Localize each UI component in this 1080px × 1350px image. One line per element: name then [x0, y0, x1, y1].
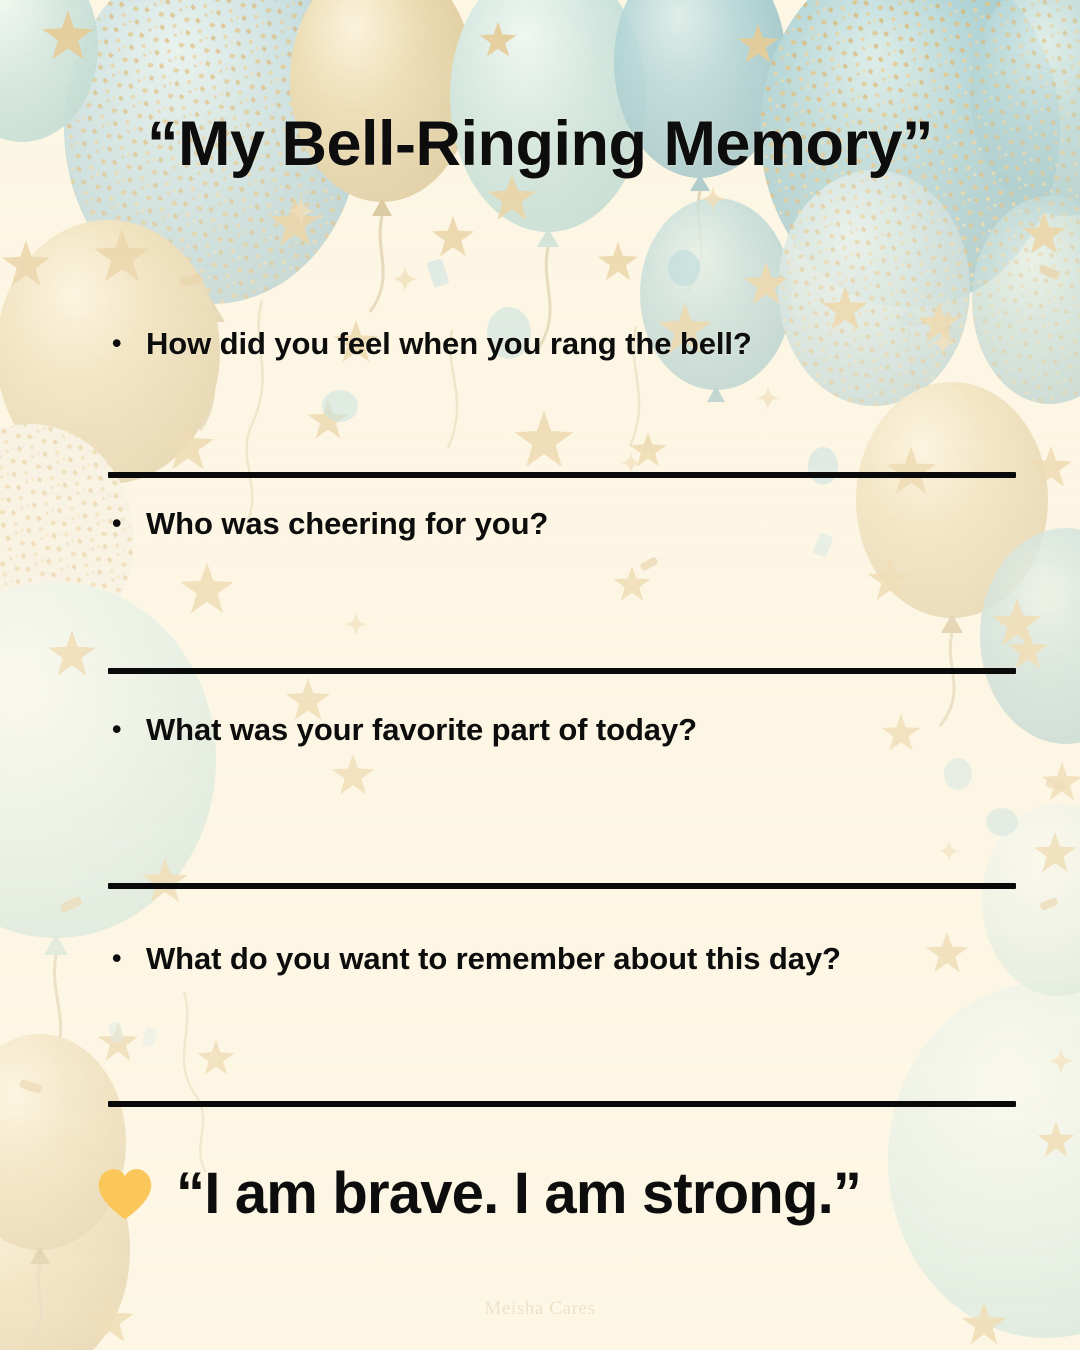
- watermark-credit: Meisha Cares: [0, 1298, 1080, 1320]
- question-4-text: What do you want to remember about this …: [146, 941, 1080, 977]
- question-3-text: What was your favorite part of today?: [146, 712, 1080, 748]
- affirmation-row: “I am brave. I am strong.”: [96, 1160, 861, 1227]
- printable-worksheet-page: “My Bell-Ringing Memory” • How did you f…: [0, 0, 1080, 1350]
- bullet-icon: •: [112, 941, 146, 976]
- question-block-2: • Who was cheering for you?: [0, 506, 1080, 542]
- bullet-icon: •: [112, 506, 146, 541]
- question-3: • What was your favorite part of today?: [0, 712, 1080, 748]
- question-block-3: • What was your favorite part of today?: [0, 712, 1080, 748]
- answer-line-3[interactable]: [108, 883, 1016, 889]
- question-2-text: Who was cheering for you?: [146, 506, 1080, 542]
- question-block-1: • How did you feel when you rang the bel…: [0, 326, 1080, 362]
- page-title: “My Bell-Ringing Memory”: [0, 108, 1080, 180]
- question-1: • How did you feel when you rang the bel…: [0, 326, 1080, 362]
- question-2: • Who was cheering for you?: [0, 506, 1080, 542]
- bullet-icon: •: [112, 326, 146, 361]
- answer-line-1[interactable]: [108, 472, 1016, 478]
- question-block-4: • What do you want to remember about thi…: [0, 941, 1080, 977]
- yellow-heart-icon: [96, 1167, 154, 1221]
- question-4: • What do you want to remember about thi…: [0, 941, 1080, 977]
- answer-line-4[interactable]: [108, 1101, 1016, 1107]
- question-1-text: How did you feel when you rang the bell?: [146, 326, 1080, 362]
- affirmation-text: “I am brave. I am strong.”: [176, 1160, 861, 1227]
- bullet-icon: •: [112, 712, 146, 747]
- answer-line-2[interactable]: [108, 668, 1016, 674]
